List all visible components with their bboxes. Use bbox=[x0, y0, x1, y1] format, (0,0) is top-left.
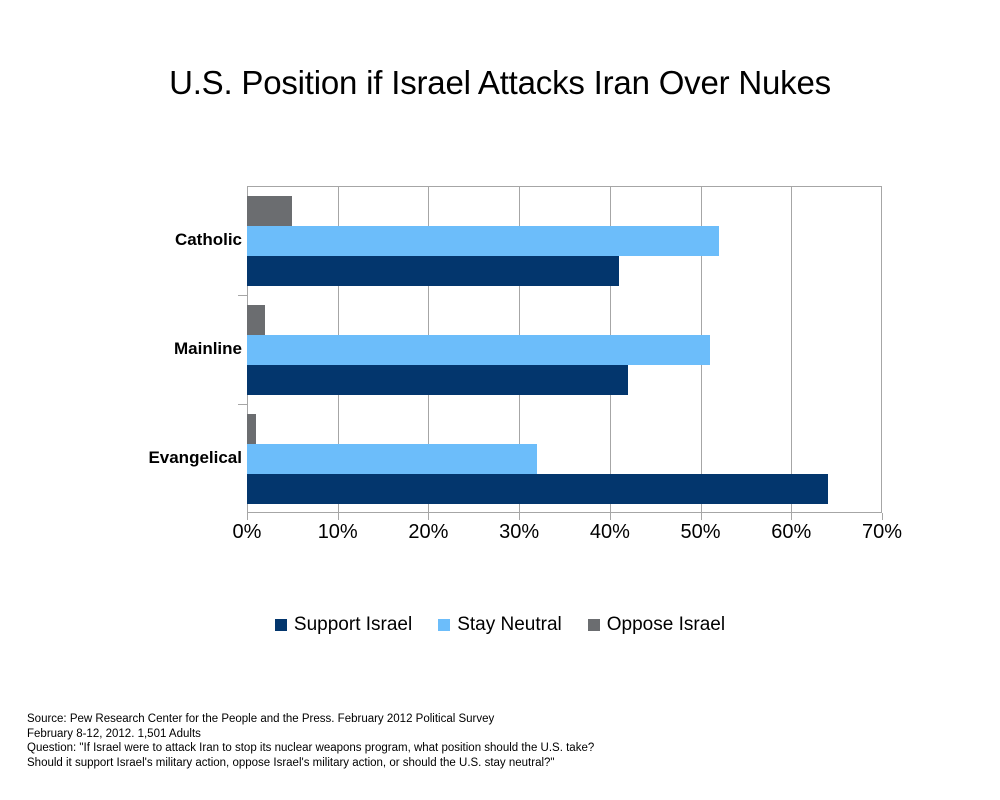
bar-evangelical-oppose-israel bbox=[247, 414, 256, 444]
x-axis-tick bbox=[701, 513, 702, 520]
x-axis-tick-label: 20% bbox=[388, 521, 468, 544]
x-axis-tick bbox=[791, 513, 792, 520]
legend-item-stay-neutral[interactable]: Stay Neutral bbox=[438, 614, 562, 636]
x-axis-tick bbox=[338, 513, 339, 520]
x-axis-tick bbox=[247, 513, 248, 520]
x-axis-tick-label: 60% bbox=[751, 521, 831, 544]
y-axis-tick bbox=[238, 295, 247, 296]
bar-catholic-oppose-israel bbox=[247, 196, 292, 226]
bar-catholic-stay-neutral bbox=[247, 226, 719, 256]
bar-evangelical-stay-neutral bbox=[247, 444, 537, 474]
x-axis-tick-label: 40% bbox=[570, 521, 650, 544]
legend-swatch-icon bbox=[275, 619, 287, 631]
footnote: Source: Pew Research Center for the Peop… bbox=[27, 712, 787, 770]
legend-label: Support Israel bbox=[294, 614, 412, 636]
legend-swatch-icon bbox=[588, 619, 600, 631]
footnote-line-dates: February 8-12, 2012. 1,501 Adults bbox=[27, 727, 787, 742]
x-axis-tick-label: 10% bbox=[298, 521, 378, 544]
footnote-line-question-2: Should it support Israel's military acti… bbox=[27, 756, 787, 771]
legend-swatch-icon bbox=[438, 619, 450, 631]
legend-item-oppose-israel[interactable]: Oppose Israel bbox=[588, 614, 725, 636]
category-label-evangelical: Evangelical bbox=[22, 448, 242, 468]
gridline bbox=[791, 186, 792, 513]
legend-label: Oppose Israel bbox=[607, 614, 725, 636]
legend-item-support-israel[interactable]: Support Israel bbox=[275, 614, 412, 636]
footnote-line-question-1: Question: "If Israel were to attack Iran… bbox=[27, 741, 787, 756]
chart-legend: Support IsraelStay NeutralOppose Israel bbox=[0, 614, 1000, 636]
x-axis-tick bbox=[610, 513, 611, 520]
category-label-catholic: Catholic bbox=[22, 230, 242, 250]
legend-label: Stay Neutral bbox=[457, 614, 562, 636]
x-axis-tick bbox=[882, 513, 883, 520]
x-axis-tick bbox=[428, 513, 429, 520]
y-axis-tick bbox=[238, 404, 247, 405]
bar-mainline-stay-neutral bbox=[247, 335, 710, 365]
x-axis-tick-label: 50% bbox=[661, 521, 741, 544]
x-axis-tick bbox=[519, 513, 520, 520]
chart-slide: U.S. Position if Israel Attacks Iran Ove… bbox=[0, 0, 1000, 800]
bar-catholic-support-israel bbox=[247, 256, 619, 286]
bar-chart: 0%10%20%30%40%50%60%70% CatholicMainline… bbox=[0, 0, 1000, 800]
x-axis-tick-label: 70% bbox=[842, 521, 922, 544]
bar-evangelical-support-israel bbox=[247, 474, 828, 504]
x-axis-tick-label: 0% bbox=[207, 521, 287, 544]
bar-mainline-support-israel bbox=[247, 365, 628, 395]
bar-mainline-oppose-israel bbox=[247, 305, 265, 335]
x-axis-tick-label: 30% bbox=[479, 521, 559, 544]
category-label-mainline: Mainline bbox=[22, 339, 242, 359]
footnote-line-source: Source: Pew Research Center for the Peop… bbox=[27, 712, 787, 727]
